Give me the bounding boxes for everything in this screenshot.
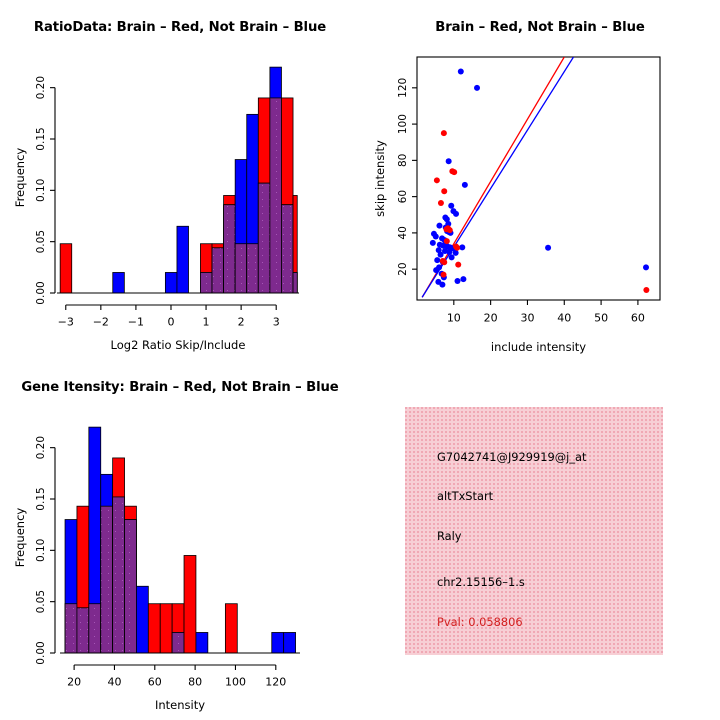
x-axis-tick-label: 40 bbox=[107, 676, 121, 689]
scatter-point bbox=[430, 240, 436, 246]
x-axis-tick-label: 20 bbox=[67, 676, 81, 689]
x-axis-tick-label: 60 bbox=[148, 676, 162, 689]
histogram-bar-blue bbox=[165, 272, 177, 293]
panel-probe-info: G7042741@J929919@j_at altTxStart Raly ch… bbox=[360, 360, 720, 720]
y-axis-label: Frequency bbox=[13, 148, 27, 208]
scatter-point bbox=[453, 250, 459, 256]
x-axis-tick-label: 100 bbox=[225, 676, 246, 689]
histogram-bar-overlap bbox=[235, 244, 247, 293]
scatter-point bbox=[447, 227, 453, 233]
panel-gene-intensity-histogram: Gene Itensity: Brain – Red, Not Brain – … bbox=[0, 360, 360, 720]
histogram-bar-overlap bbox=[65, 604, 77, 653]
ratio-histogram-plot: 0.000.050.100.150.20−3−2−10123Log2 Ratio… bbox=[0, 0, 360, 360]
scatter-point bbox=[474, 85, 480, 91]
x-axis-tick-label: 60 bbox=[631, 312, 645, 325]
scatter-point bbox=[434, 177, 440, 183]
histogram-bar-overlap bbox=[89, 604, 101, 653]
x-axis-tick-label: 1 bbox=[203, 316, 210, 329]
scatter-point bbox=[438, 200, 444, 206]
histogram-bar-overlap bbox=[101, 506, 113, 653]
x-axis-tick-label: 0 bbox=[167, 316, 174, 329]
scatter-point bbox=[449, 254, 455, 260]
scatter-content bbox=[422, 57, 649, 297]
event-type-text: altTxStart bbox=[437, 489, 493, 503]
panel-ratio-histogram: RatioData: Brain – Red, Not Brain – Blue… bbox=[0, 0, 360, 360]
histogram-bar-red bbox=[184, 555, 196, 653]
y-axis-label: Frequency bbox=[13, 508, 27, 568]
histogram-bar-red bbox=[60, 244, 72, 293]
panel-intensity-scatter: Brain – Red, Not Brain – Blue 1020304050… bbox=[360, 0, 720, 360]
scatter-point bbox=[435, 279, 441, 285]
x-axis-tick-label: 30 bbox=[520, 312, 534, 325]
scatter-series-brain bbox=[434, 130, 649, 293]
histogram-bar-overlap bbox=[200, 272, 212, 293]
scatter-point bbox=[441, 130, 447, 136]
scatter-point bbox=[459, 244, 465, 250]
scatter-point bbox=[436, 223, 442, 229]
x-axis-tick-label: −1 bbox=[128, 316, 144, 329]
y-axis-label: skip intensity bbox=[373, 140, 387, 217]
plot-box bbox=[417, 57, 660, 300]
y-axis-tick-label: 0.05 bbox=[35, 590, 47, 613]
y-axis-tick-label: 20 bbox=[397, 262, 409, 275]
histogram-bar-red bbox=[225, 604, 237, 653]
scatter-plot: 10203040506020406080100120include intens… bbox=[360, 0, 720, 360]
probe-info-box: G7042741@J929919@j_at altTxStart Raly ch… bbox=[405, 407, 663, 655]
x-axis-label: include intensity bbox=[491, 340, 586, 354]
histogram-bar-overlap bbox=[258, 183, 270, 293]
scatter-point bbox=[545, 245, 551, 251]
scatter-point bbox=[448, 203, 454, 209]
y-axis-tick-label: 0.15 bbox=[35, 487, 47, 510]
histogram-bar-overlap bbox=[270, 98, 282, 293]
scatter-point bbox=[433, 234, 439, 240]
y-axis-tick-label: 60 bbox=[397, 190, 409, 203]
scatter-point bbox=[438, 252, 444, 258]
scatter-point bbox=[433, 267, 439, 273]
scatter-point bbox=[434, 257, 440, 263]
scatter-series-not-brain bbox=[430, 69, 649, 288]
histogram-bar-red bbox=[148, 604, 160, 653]
histogram-bar-overlap bbox=[172, 632, 184, 653]
x-axis-tick-label: 10 bbox=[447, 312, 461, 325]
y-axis-tick-label: 40 bbox=[397, 226, 409, 239]
histogram-bars bbox=[60, 67, 297, 293]
x-axis-tick-label: 2 bbox=[238, 316, 245, 329]
probe-id-text: G7042741@J929919@j_at bbox=[437, 450, 587, 464]
pvalue-text: Pval: 0.058806 bbox=[437, 615, 523, 629]
scatter-point bbox=[444, 238, 450, 244]
histogram-bar-overlap bbox=[125, 520, 137, 653]
x-axis-label: Log2 Ratio Skip/Include bbox=[111, 338, 246, 352]
y-axis-tick-label: 0.15 bbox=[35, 127, 47, 150]
scatter-point bbox=[451, 169, 457, 175]
y-axis-tick-label: 120 bbox=[397, 78, 409, 98]
histogram-bar-overlap bbox=[77, 608, 89, 653]
y-axis-tick-label: 0.05 bbox=[35, 230, 47, 253]
x-axis-tick-label: 80 bbox=[188, 676, 202, 689]
scatter-point bbox=[453, 211, 459, 217]
histogram-bar-overlap bbox=[212, 248, 224, 293]
y-axis-tick-label: 0.20 bbox=[35, 76, 47, 99]
histogram-bars bbox=[65, 427, 296, 653]
histogram-bar-overlap bbox=[281, 205, 293, 293]
scatter-point bbox=[462, 182, 468, 188]
gene-histogram-plot: 0.000.050.100.150.2020406080100120Intens… bbox=[0, 360, 360, 720]
scatter-point bbox=[455, 262, 461, 268]
scatter-point bbox=[455, 278, 461, 284]
scatter-point bbox=[441, 188, 447, 194]
histogram-bar-overlap bbox=[293, 272, 297, 293]
histogram-bar-blue bbox=[284, 632, 296, 653]
y-axis-tick-label: 0.10 bbox=[35, 179, 47, 202]
x-axis-tick-label: −2 bbox=[93, 316, 109, 329]
x-axis-tick-label: 50 bbox=[594, 312, 608, 325]
x-axis-label: Intensity bbox=[155, 698, 205, 712]
scatter-point bbox=[458, 69, 464, 75]
y-axis-tick-label: 100 bbox=[397, 114, 409, 134]
histogram-bar-overlap bbox=[113, 497, 125, 653]
histogram-bar-blue bbox=[136, 586, 148, 653]
y-axis-tick-label: 0.10 bbox=[35, 539, 47, 562]
scatter-point bbox=[643, 287, 649, 293]
scatter-point bbox=[454, 245, 460, 251]
scatter-point bbox=[446, 249, 452, 255]
histogram-bar-blue bbox=[196, 632, 208, 653]
x-axis-tick-label: 3 bbox=[273, 316, 280, 329]
histogram-bar-blue bbox=[272, 632, 284, 653]
histogram-bar-overlap bbox=[247, 244, 259, 293]
scatter-point bbox=[441, 259, 447, 265]
histogram-bar-red bbox=[160, 604, 172, 653]
y-axis-tick-label: 0.00 bbox=[35, 281, 47, 304]
x-axis-tick-label: 40 bbox=[557, 312, 571, 325]
gene-symbol-text: Raly bbox=[437, 529, 462, 543]
scatter-point bbox=[643, 264, 649, 270]
y-axis-tick-label: 0.00 bbox=[35, 641, 47, 664]
scatter-point bbox=[441, 272, 447, 278]
histogram-bar-blue bbox=[113, 272, 125, 293]
histogram-bar-overlap bbox=[224, 205, 236, 293]
scatter-point bbox=[460, 276, 466, 282]
figure-canvas: RatioData: Brain – Red, Not Brain – Blue… bbox=[0, 0, 720, 720]
scatter-point bbox=[446, 158, 452, 164]
histogram-bar-blue bbox=[177, 226, 189, 293]
y-axis-tick-label: 80 bbox=[397, 154, 409, 167]
x-axis-tick-label: 20 bbox=[484, 312, 498, 325]
x-axis-tick-label: −3 bbox=[58, 316, 74, 329]
axes: 10203040506020406080100120 bbox=[397, 78, 645, 325]
locus-text: chr2.15156–1.s bbox=[437, 575, 525, 589]
x-axis-tick-label: 120 bbox=[265, 676, 286, 689]
y-axis-tick-label: 0.20 bbox=[35, 436, 47, 459]
